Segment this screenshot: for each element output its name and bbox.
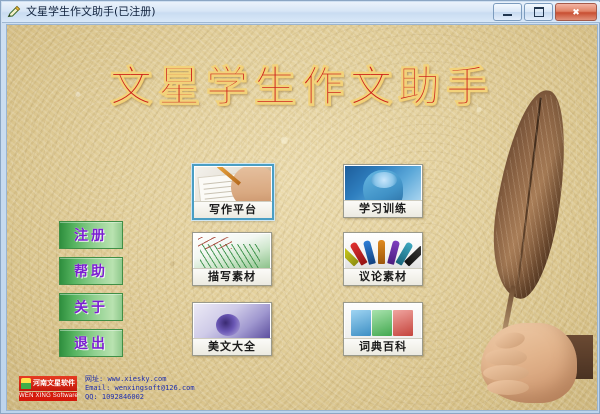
contact-qq-label: QQ: [85, 393, 98, 401]
contact-website-label: 网址: [85, 375, 103, 383]
window-title: 文星学生作文助手(已注册) [26, 2, 156, 22]
finger-shape [487, 380, 529, 395]
ink-painting-bamboo-icon [194, 234, 270, 268]
tile-label: 写作平台 [194, 201, 272, 218]
contact-qq: QQ: 1092846002 [85, 393, 195, 402]
minimize-button[interactable] [493, 3, 522, 21]
company-logo: 河南文星软件 WEN XING Software [19, 374, 77, 402]
tile-label: 议论素材 [344, 268, 422, 285]
contact-website: 网址: www.xiesky.com [85, 375, 195, 384]
contact-website-value: www.xiesky.com [107, 375, 166, 383]
finger-shape [485, 349, 527, 366]
notebook-hand-writing-icon [195, 167, 271, 201]
hand-holding-quill-feather-image [475, 87, 593, 405]
close-button[interactable]: ✖ [555, 3, 597, 21]
contact-info: 网址: www.xiesky.com Email: wenxingsoft@12… [85, 375, 195, 402]
logo-en-text: WEN XING Software [19, 392, 77, 401]
tile-writing-platform[interactable]: 写作平台 [192, 164, 274, 220]
tile-label: 描写素材 [193, 268, 271, 285]
footer: 河南文星软件 WEN XING Software 网址: www.xiesky.… [19, 374, 195, 402]
tile-description-material[interactable]: 描写素材 [192, 232, 272, 286]
tile-argumentation-material[interactable]: 议论素材 [343, 232, 423, 286]
tile-dictionary-encyclopedia[interactable]: 词典百科 [343, 302, 423, 356]
tile-label: 美文大全 [193, 338, 271, 355]
contact-email-label: Email: [85, 384, 110, 392]
contact-email: Email: wenxingsoft@126.com [85, 384, 195, 393]
logo-cn-text: 河南文星软件 [33, 378, 75, 388]
maximize-button[interactable] [524, 3, 553, 21]
tile-label: 词典百科 [344, 338, 422, 355]
tile-beautiful-essays[interactable]: 美文大全 [192, 302, 272, 356]
close-icon: ✖ [572, 8, 580, 17]
application-window: 文星学生作文助手(已注册) ✖ 文星学生作文助手 注册 帮助 关于 退出 [0, 0, 600, 414]
window-controls: ✖ [493, 3, 597, 21]
purple-flower-icon [194, 304, 270, 338]
pen-nib-icon [6, 4, 22, 20]
logo-mark-icon [21, 378, 31, 389]
contact-qq-value: 1092846002 [102, 393, 144, 401]
contact-email-value: wenxingsoft@126.com [115, 384, 195, 392]
tile-label: 学习训练 [344, 200, 422, 217]
title-bar[interactable]: 文星学生作文助手(已注册) ✖ [2, 2, 600, 23]
client-area: 文星学生作文助手 注册 帮助 关于 退出 [6, 24, 598, 411]
finger-shape [483, 365, 529, 381]
brain-head-icon [345, 166, 421, 200]
stacked-books-icon [345, 304, 421, 338]
tile-study-training[interactable]: 学习训练 [343, 164, 423, 218]
colored-pens-fan-icon [345, 234, 421, 268]
